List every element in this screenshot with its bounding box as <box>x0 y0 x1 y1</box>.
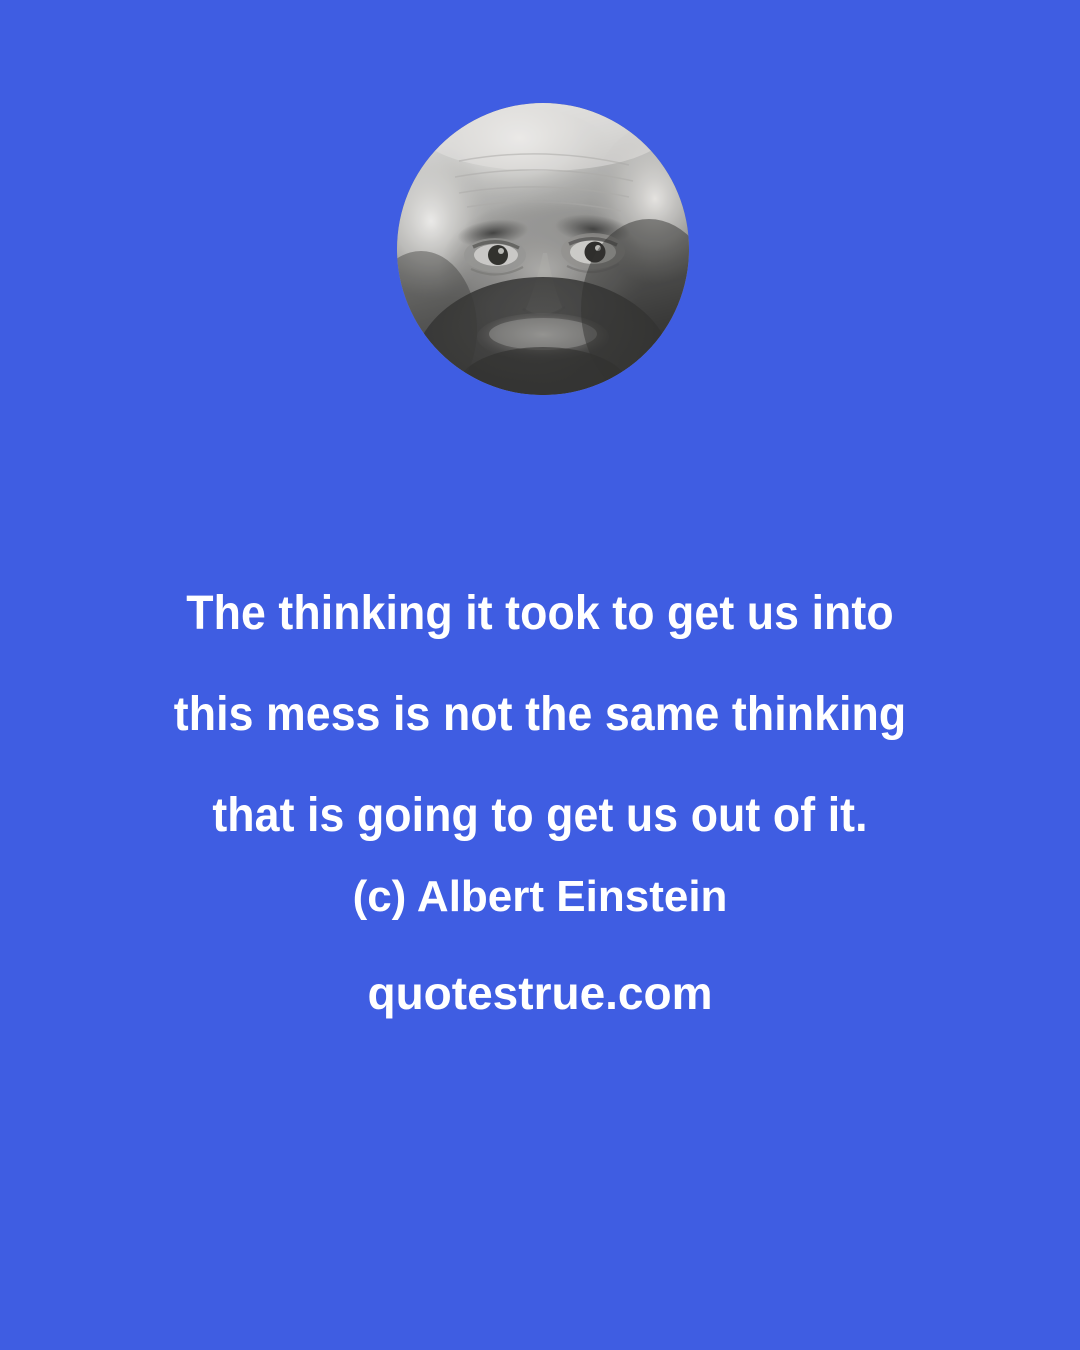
albert-einstein-portrait-icon <box>397 103 689 395</box>
quote-text: The thinking it took to get us into this… <box>0 563 1080 866</box>
portrait-container <box>397 103 689 395</box>
quote-card: The thinking it took to get us into this… <box>0 0 1080 1350</box>
quote-line: The thinking it took to get us into <box>38 563 1042 664</box>
quote-line: that is going to get us out of it. <box>38 765 1042 866</box>
quote-attribution: (c) Albert Einstein <box>0 869 1080 925</box>
source-website: quotestrue.com <box>0 963 1080 1023</box>
quote-line: this mess is not the same thinking <box>38 664 1042 765</box>
